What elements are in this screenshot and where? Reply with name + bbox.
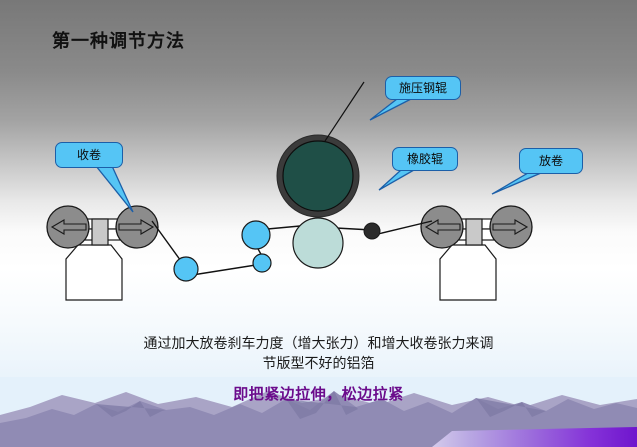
callout-press-steel-roller[interactable]: 施压钢辊 [385,76,461,100]
callout-unwind[interactable]: 放卷 [519,148,583,174]
callout-rewind[interactable]: 收卷 [55,142,123,168]
callout-tails [0,0,637,447]
callout-rewind-label: 收卷 [77,149,101,161]
callout-unwind-label: 放卷 [539,155,563,167]
callout-fangjuan-tail [492,173,541,194]
callout-xiangjiao-tail [379,170,414,190]
callout-rubber-roller[interactable]: 橡胶辊 [392,147,458,171]
callout-press-steel-roller-label: 施压钢辊 [399,82,447,94]
callout-rubber-roller-label: 橡胶辊 [407,153,443,165]
callout-shoujuan-tail [96,166,133,212]
callout-gangun-tail [370,99,411,120]
slide-canvas: 第一种调节方法 [0,0,637,447]
